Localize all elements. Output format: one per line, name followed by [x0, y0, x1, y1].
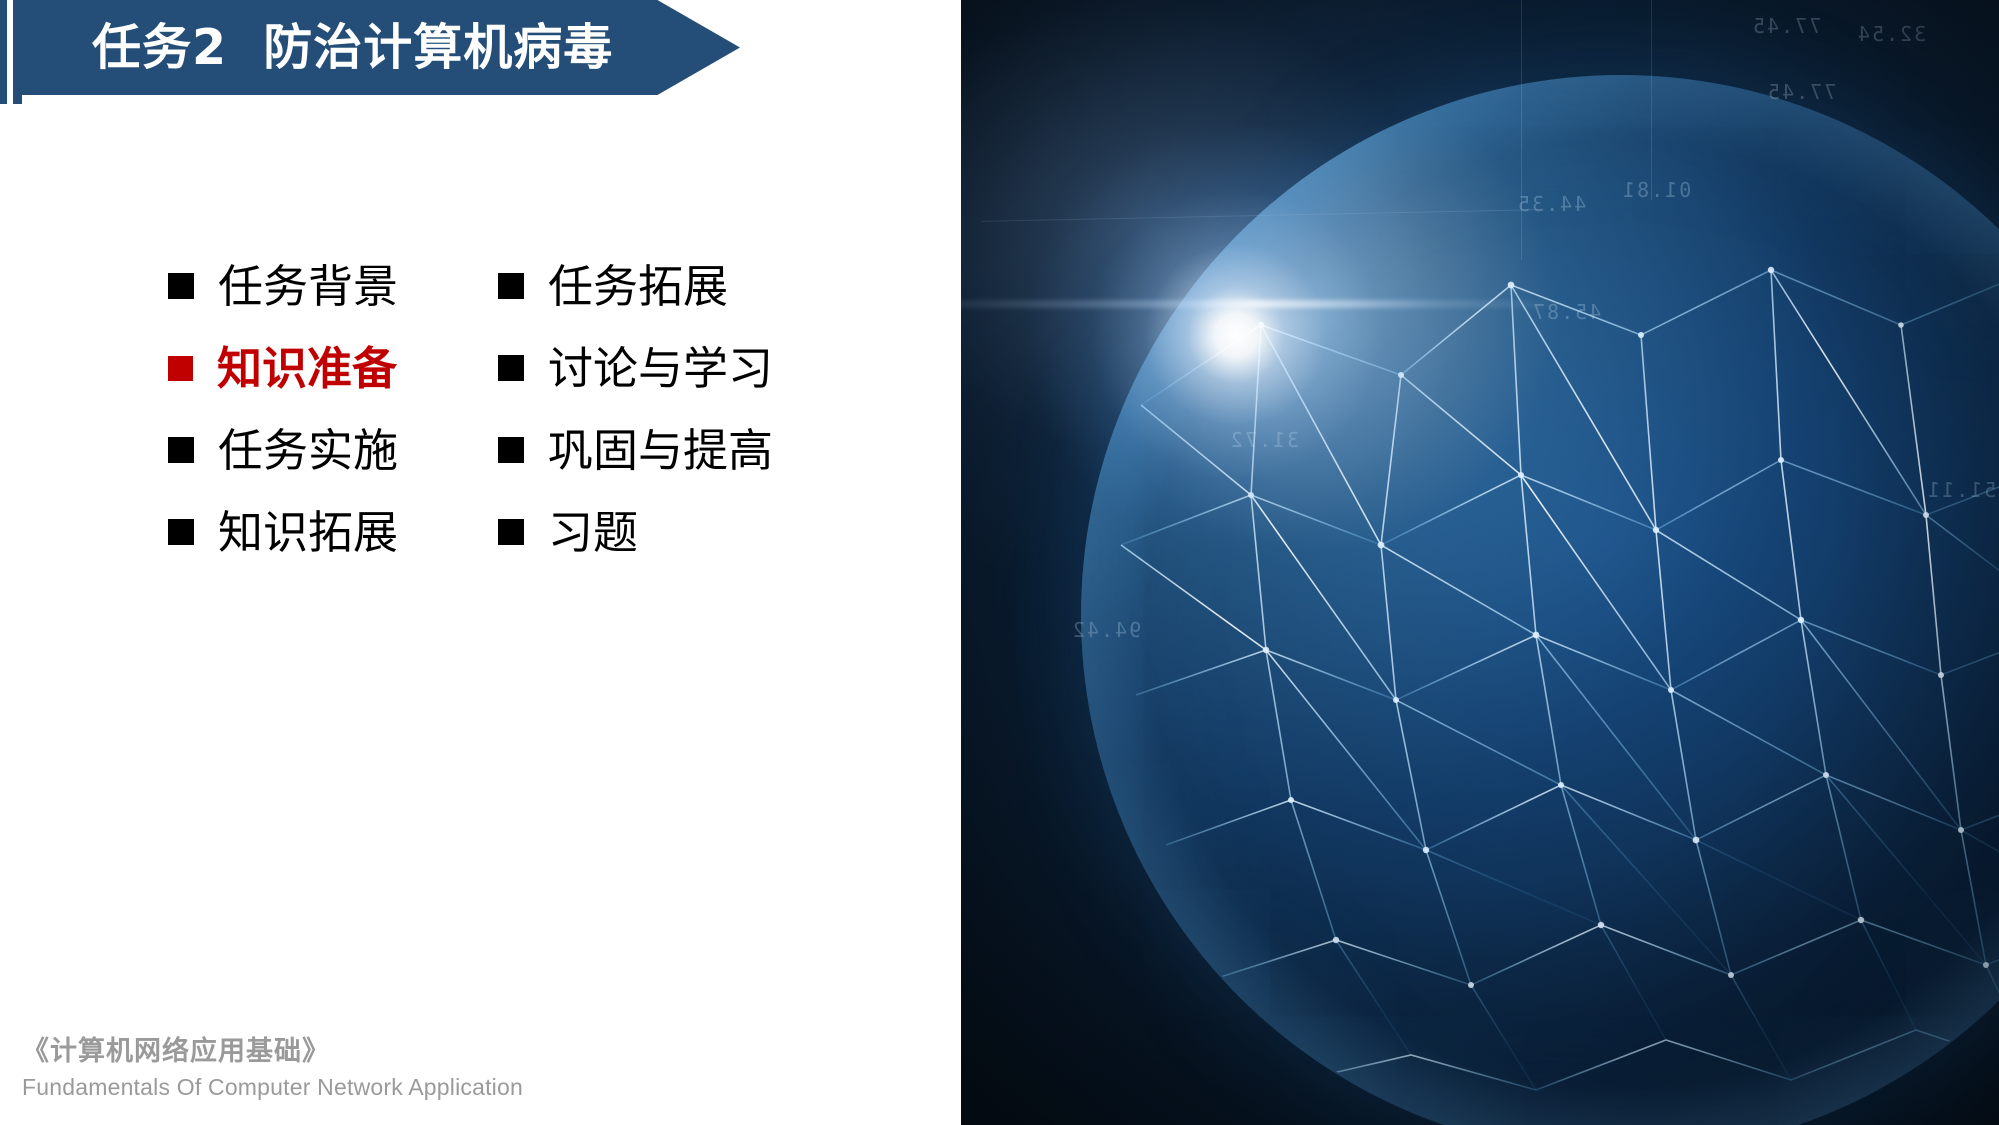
- title-banner: 任务2 防治计算机病毒: [22, 0, 740, 95]
- left-accent-stripe-outer: [0, 0, 7, 104]
- footer-course-title-en: Fundamentals Of Computer Network Applica…: [22, 1073, 622, 1103]
- list-item[interactable]: 讨论与学习: [498, 327, 828, 409]
- agenda-item-label: 讨论与学习: [548, 346, 773, 391]
- list-item[interactable]: 知识拓展: [168, 491, 498, 573]
- square-bullet-icon: [168, 519, 194, 545]
- list-item[interactable]: 习题: [498, 491, 828, 573]
- list-item-active[interactable]: 知识准备: [168, 327, 498, 409]
- hud-guide-line: [1651, 0, 1652, 200]
- agenda-section: 任务背景 任务拓展 知识准备 讨论与学习 任务实施 巩固与: [0, 150, 960, 770]
- agenda-item-label: 任务拓展: [548, 264, 728, 309]
- square-bullet-icon: [498, 519, 524, 545]
- footer: 《计算机网络应用基础》 Fundamentals Of Computer Net…: [22, 1035, 622, 1103]
- list-item[interactable]: 巩固与提高: [498, 409, 828, 491]
- page-title: 任务2 防治计算机病毒: [92, 23, 613, 72]
- agenda-item-label: 习题: [548, 510, 638, 555]
- agenda-grid: 任务背景 任务拓展 知识准备 讨论与学习 任务实施 巩固与: [168, 245, 828, 573]
- lens-flare-streak: [961, 300, 1571, 308]
- left-accent-stripe-inner: [13, 0, 22, 104]
- agenda-item-label: 知识拓展: [218, 510, 398, 555]
- list-item[interactable]: 任务背景: [168, 245, 498, 327]
- hud-guide-line: [1521, 0, 1522, 260]
- hero-image-digital-globe: 32.54 77.45 77.45 44.35 01.81 45.87 51.1…: [961, 0, 1999, 1125]
- square-bullet-icon: [168, 273, 194, 299]
- square-bullet-icon: [498, 437, 524, 463]
- square-bullet-icon: [168, 437, 194, 463]
- list-item[interactable]: 任务拓展: [498, 245, 828, 327]
- agenda-item-label: 任务背景: [218, 264, 398, 309]
- square-bullet-icon: [498, 273, 524, 299]
- agenda-item-label: 任务实施: [218, 428, 398, 473]
- slide-root: 任务2 防治计算机病毒 任务背景 任务拓展 知识准备 讨论与学习: [0, 0, 1999, 1125]
- footer-course-title-cn: 《计算机网络应用基础》: [22, 1035, 622, 1069]
- list-item[interactable]: 任务实施: [168, 409, 498, 491]
- square-bullet-icon: [498, 355, 524, 381]
- square-bullet-icon-active: [168, 356, 193, 381]
- agenda-item-label-active: 知识准备: [217, 346, 397, 391]
- agenda-item-label: 巩固与提高: [548, 428, 773, 473]
